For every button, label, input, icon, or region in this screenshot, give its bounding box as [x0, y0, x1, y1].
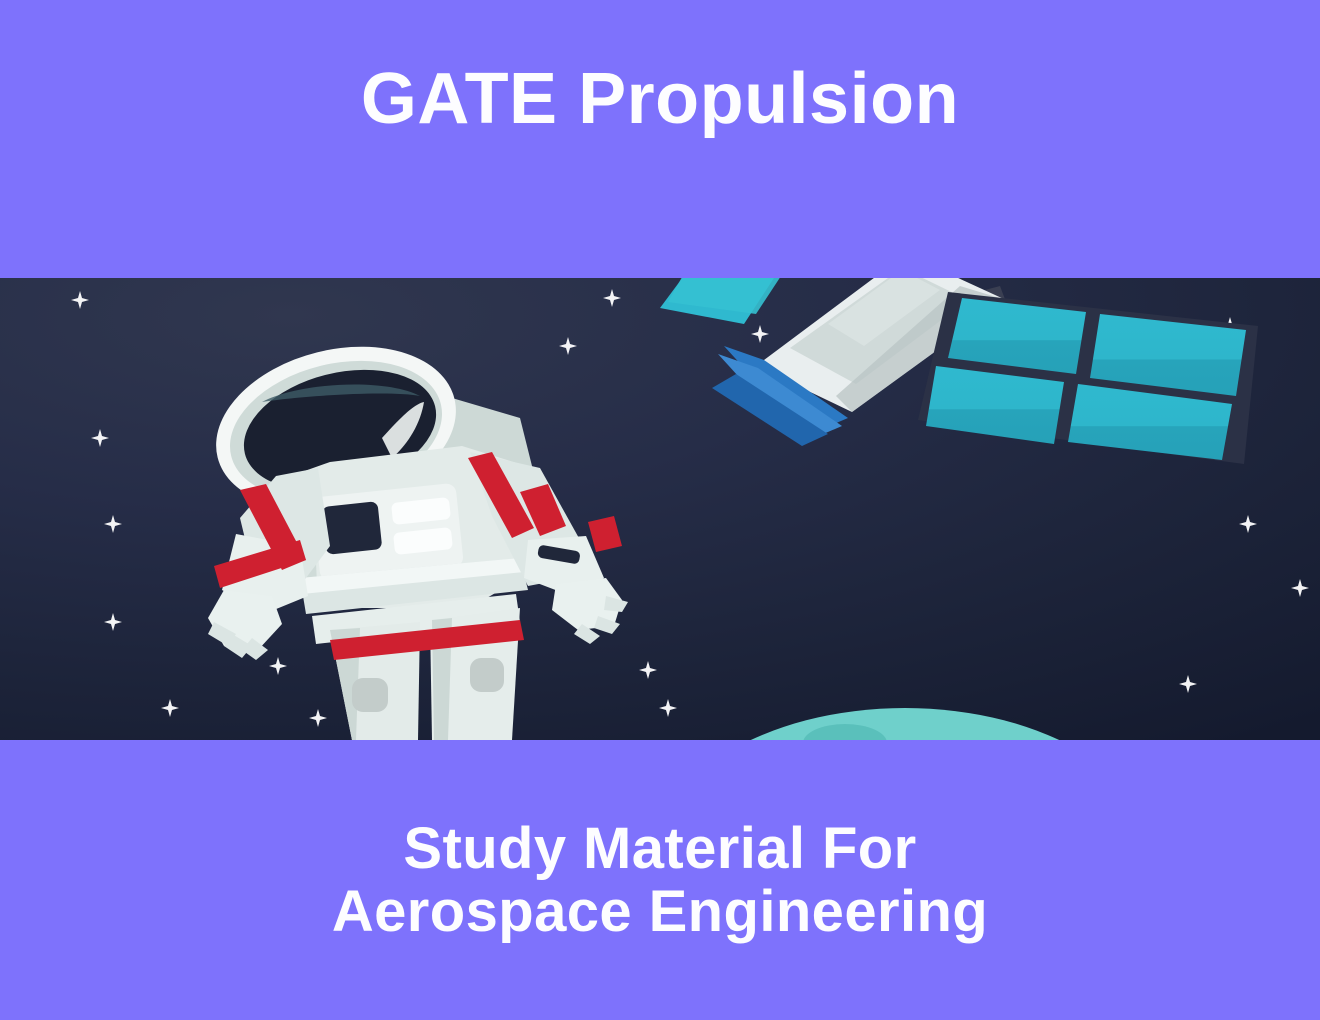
subtitle-section: Study Material For Aerospace Engineering — [0, 740, 1320, 1020]
page-title: GATE Propulsion — [361, 0, 959, 138]
space-illustration-banner — [0, 278, 1320, 740]
page-subtitle: Study Material For Aerospace Engineering — [332, 740, 988, 943]
cover-page: GATE Propulsion — [0, 0, 1320, 1020]
title-section: GATE Propulsion — [0, 0, 1320, 278]
subtitle-line-2: Aerospace Engineering — [332, 881, 988, 944]
space-scene-svg — [0, 278, 1320, 740]
subtitle-line-1: Study Material For — [332, 818, 988, 881]
